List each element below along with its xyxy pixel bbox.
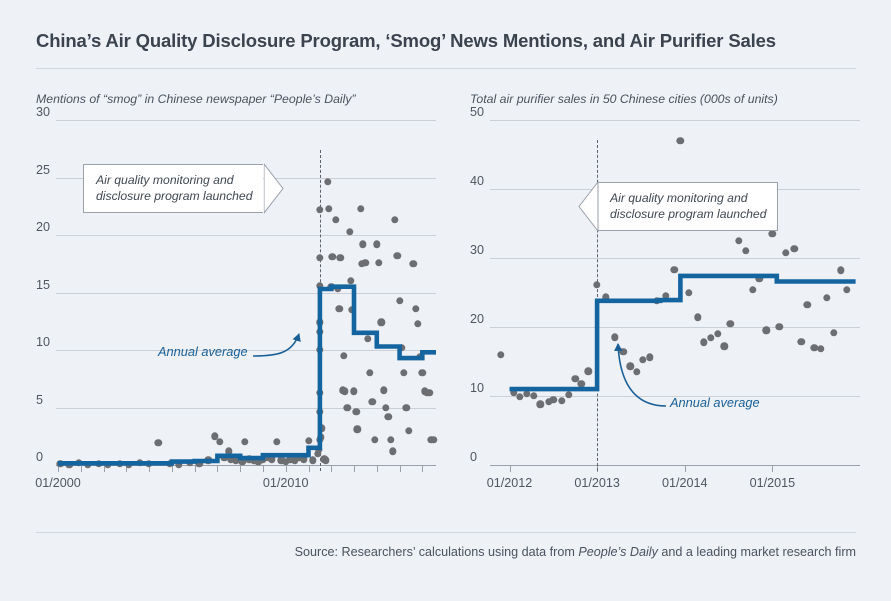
left-panel-subtitle: Mentions of “smog” in Chinese newspaper … — [36, 92, 356, 106]
source-note: Source: Researchers’ calculations using … — [36, 545, 856, 559]
title-divider — [36, 68, 856, 69]
source-prefix: Source: Researchers’ calculations using … — [295, 545, 579, 559]
left-plot-area: 05101520253001/200001/2010Air quality mo… — [36, 120, 436, 465]
annual-average-annotation-arrow — [470, 120, 870, 465]
annual-average-annotation-arrow — [36, 120, 436, 465]
right-plot-area: 0102030405001/201201/201301/201401/2015A… — [470, 120, 860, 465]
right-panel-subtitle: Total air purifier sales in 50 Chinese c… — [470, 92, 778, 106]
source-divider — [36, 532, 856, 533]
y-axis-tick-label: 50 — [470, 105, 484, 119]
chart-page: China’s Air Quality Disclosure Program, … — [0, 0, 891, 601]
source-suffix: and a leading market research firm — [658, 545, 856, 559]
source-italic: People’s Daily — [578, 545, 658, 559]
y-axis-tick-label: 30 — [36, 105, 50, 119]
page-title: China’s Air Quality Disclosure Program, … — [36, 30, 856, 52]
